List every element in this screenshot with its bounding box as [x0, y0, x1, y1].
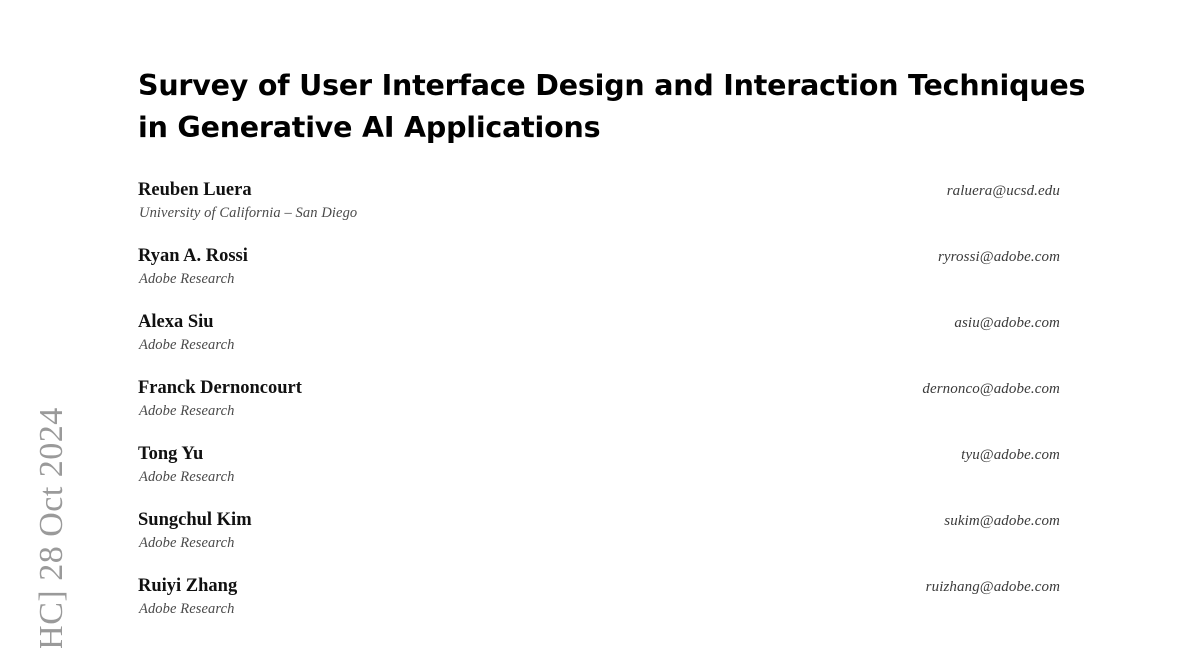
arxiv-stamp-text: [cs.HC] 28 Oct 2024: [35, 407, 69, 648]
author-name: Ruiyi Zhang: [138, 575, 237, 597]
author-block: Sungchul Kimsukim@adobe.comAdobe Researc…: [138, 509, 1062, 575]
author-email[interactable]: ryrossi@adobe.com: [938, 247, 1060, 267]
author-name: Sungchul Kim: [138, 509, 252, 531]
author-block: Alexa Siuasiu@adobe.comAdobe Research: [138, 311, 1062, 377]
author-affiliation: Adobe Research: [139, 468, 234, 487]
author-affiliation: Adobe Research: [139, 600, 234, 619]
author-affiliation: Adobe Research: [139, 336, 234, 355]
author-email[interactable]: ruizhang@adobe.com: [926, 577, 1060, 597]
author-list: Reuben Lueraraluera@ucsd.eduUniversity o…: [138, 179, 1062, 641]
author-block: Ruiyi Zhangruizhang@adobe.comAdobe Resea…: [138, 575, 1062, 641]
author-row: Ryan A. Rossiryrossi@adobe.com: [138, 245, 1062, 268]
title-line-2: in Generative AI Applications: [138, 107, 1062, 149]
author-email[interactable]: dernonco@adobe.com: [922, 379, 1060, 399]
author-email[interactable]: sukim@adobe.com: [944, 511, 1060, 531]
author-row: Alexa Siuasiu@adobe.com: [138, 311, 1062, 334]
author-email[interactable]: tyu@adobe.com: [961, 445, 1060, 465]
author-block: Franck Dernoncourtdernonco@adobe.comAdob…: [138, 377, 1062, 443]
author-row: Ruiyi Zhangruizhang@adobe.com: [138, 575, 1062, 598]
author-row: Tong Yutyu@adobe.com: [138, 443, 1062, 466]
author-email[interactable]: raluera@ucsd.edu: [947, 181, 1060, 201]
author-affiliation: Adobe Research: [139, 270, 234, 289]
author-block: Tong Yutyu@adobe.comAdobe Research: [138, 443, 1062, 509]
author-row: Franck Dernoncourtdernonco@adobe.com: [138, 377, 1062, 400]
page-title: Survey of User Interface Design and Inte…: [138, 65, 1062, 149]
author-row: Reuben Lueraraluera@ucsd.edu: [138, 179, 1062, 202]
author-affiliation: Adobe Research: [139, 534, 234, 553]
title-line-1: Survey of User Interface Design and Inte…: [138, 65, 1062, 107]
author-block: Ryan A. Rossiryrossi@adobe.comAdobe Rese…: [138, 245, 1062, 311]
author-name: Ryan A. Rossi: [138, 245, 248, 267]
author-block: Reuben Lueraraluera@ucsd.eduUniversity o…: [138, 179, 1062, 245]
author-row: Sungchul Kimsukim@adobe.com: [138, 509, 1062, 532]
author-name: Reuben Luera: [138, 179, 252, 201]
author-name: Alexa Siu: [138, 311, 214, 333]
author-affiliation: Adobe Research: [139, 402, 234, 421]
author-affiliation: University of California – San Diego: [139, 204, 357, 223]
paper-page: [cs.HC] 28 Oct 2024 Survey of User Inter…: [0, 0, 1200, 648]
paper-content-column: Survey of User Interface Design and Inte…: [138, 0, 1062, 648]
arxiv-margin-stamp: [cs.HC] 28 Oct 2024: [30, 100, 74, 648]
author-email[interactable]: asiu@adobe.com: [954, 313, 1060, 333]
author-name: Franck Dernoncourt: [138, 377, 302, 399]
author-name: Tong Yu: [138, 443, 203, 465]
